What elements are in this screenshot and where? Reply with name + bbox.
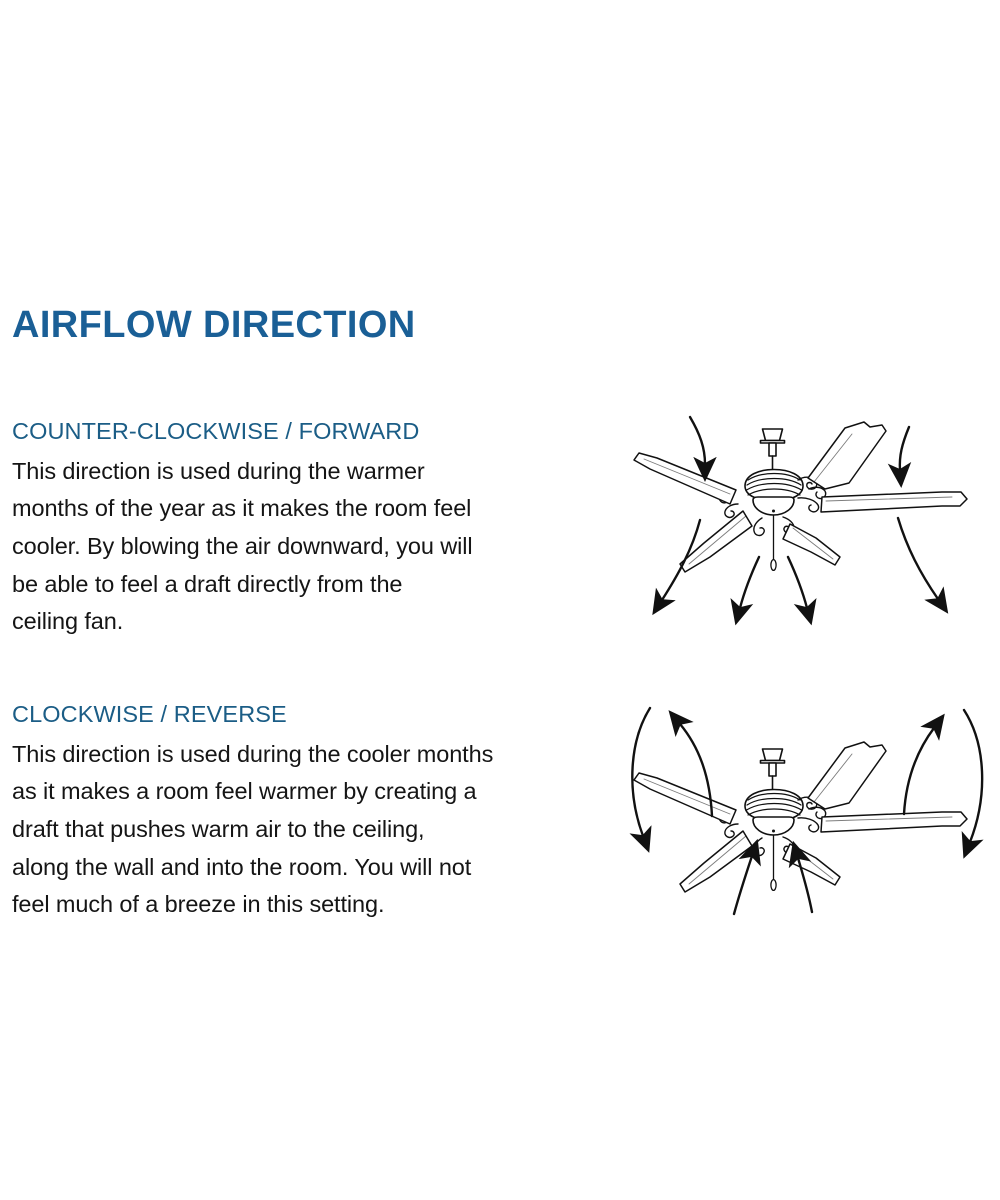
fan-blade bbox=[634, 453, 736, 504]
body-line: This direction is used during the cooler… bbox=[12, 736, 572, 774]
body-line: along the wall and into the room. You wi… bbox=[12, 849, 572, 887]
fan-pull-chain bbox=[771, 835, 776, 890]
body-line: months of the year as it makes the room … bbox=[12, 490, 572, 528]
fan-blade bbox=[808, 422, 886, 489]
section-heading-clockwise-reverse: CLOCKWISE / REVERSE bbox=[12, 701, 572, 729]
ceiling-fan-upward-airflow-diagram bbox=[612, 686, 1000, 916]
fan-canopy bbox=[761, 429, 785, 456]
airflow-arrows-downward bbox=[662, 417, 938, 608]
arrow-up-into-fan-left bbox=[734, 856, 752, 914]
body-line: as it makes a room feel warmer by creati… bbox=[12, 773, 572, 811]
body-line: feel much of a breeze in this setting. bbox=[12, 886, 572, 924]
fan-pull-chain bbox=[771, 515, 776, 570]
fan-blade bbox=[821, 492, 967, 512]
fan-illustration-body bbox=[634, 422, 967, 572]
arrow-down-center-left bbox=[740, 557, 759, 608]
arrow-down-into-fan-right bbox=[900, 427, 909, 470]
fan-blades bbox=[634, 422, 967, 572]
section-counter-clockwise-forward: COUNTER-CLOCKWISE / FORWARD This directi… bbox=[12, 418, 572, 641]
arrow-down-along-wall-right bbox=[964, 710, 982, 842]
arrow-up-out-upper-right bbox=[904, 728, 934, 814]
section-heading-counter-clockwise-forward: COUNTER-CLOCKWISE / FORWARD bbox=[12, 418, 572, 446]
fan-switch-housing bbox=[753, 817, 794, 835]
arrow-down-out-lower-right bbox=[898, 518, 938, 599]
page-title: AIRFLOW DIRECTION bbox=[12, 306, 416, 344]
section-body-counter-clockwise-forward: This direction is used during the warmer… bbox=[12, 453, 572, 641]
ceiling-fan-downward-airflow-diagram bbox=[612, 412, 1000, 652]
fan-blade bbox=[821, 812, 967, 832]
body-line: cooler. By blowing the air downward, you… bbox=[12, 528, 572, 566]
body-line: draft that pushes warm air to the ceilin… bbox=[12, 811, 572, 849]
fan-canopy bbox=[761, 749, 785, 776]
fan-switch-housing bbox=[753, 497, 794, 515]
arrow-down-into-fan-left bbox=[690, 417, 705, 464]
body-line: be able to feel a draft directly from th… bbox=[12, 566, 572, 604]
page-canvas: AIRFLOW DIRECTION COUNTER-CLOCKWISE / FO… bbox=[0, 0, 1000, 1200]
body-line: This direction is used during the warmer bbox=[12, 453, 572, 491]
section-clockwise-reverse: CLOCKWISE / REVERSE This direction is us… bbox=[12, 701, 572, 924]
fan-motor-housing bbox=[745, 790, 803, 819]
fan-blade bbox=[634, 773, 736, 824]
fan-blade bbox=[808, 742, 886, 809]
fan-blade bbox=[783, 844, 840, 885]
body-line: ceiling fan. bbox=[12, 603, 572, 641]
section-body-clockwise-reverse: This direction is used during the cooler… bbox=[12, 736, 572, 924]
arrow-down-along-wall-left bbox=[632, 708, 650, 836]
arrow-down-center-right bbox=[788, 557, 807, 608]
fan-blade bbox=[783, 524, 840, 565]
fan-motor-housing bbox=[745, 470, 803, 499]
